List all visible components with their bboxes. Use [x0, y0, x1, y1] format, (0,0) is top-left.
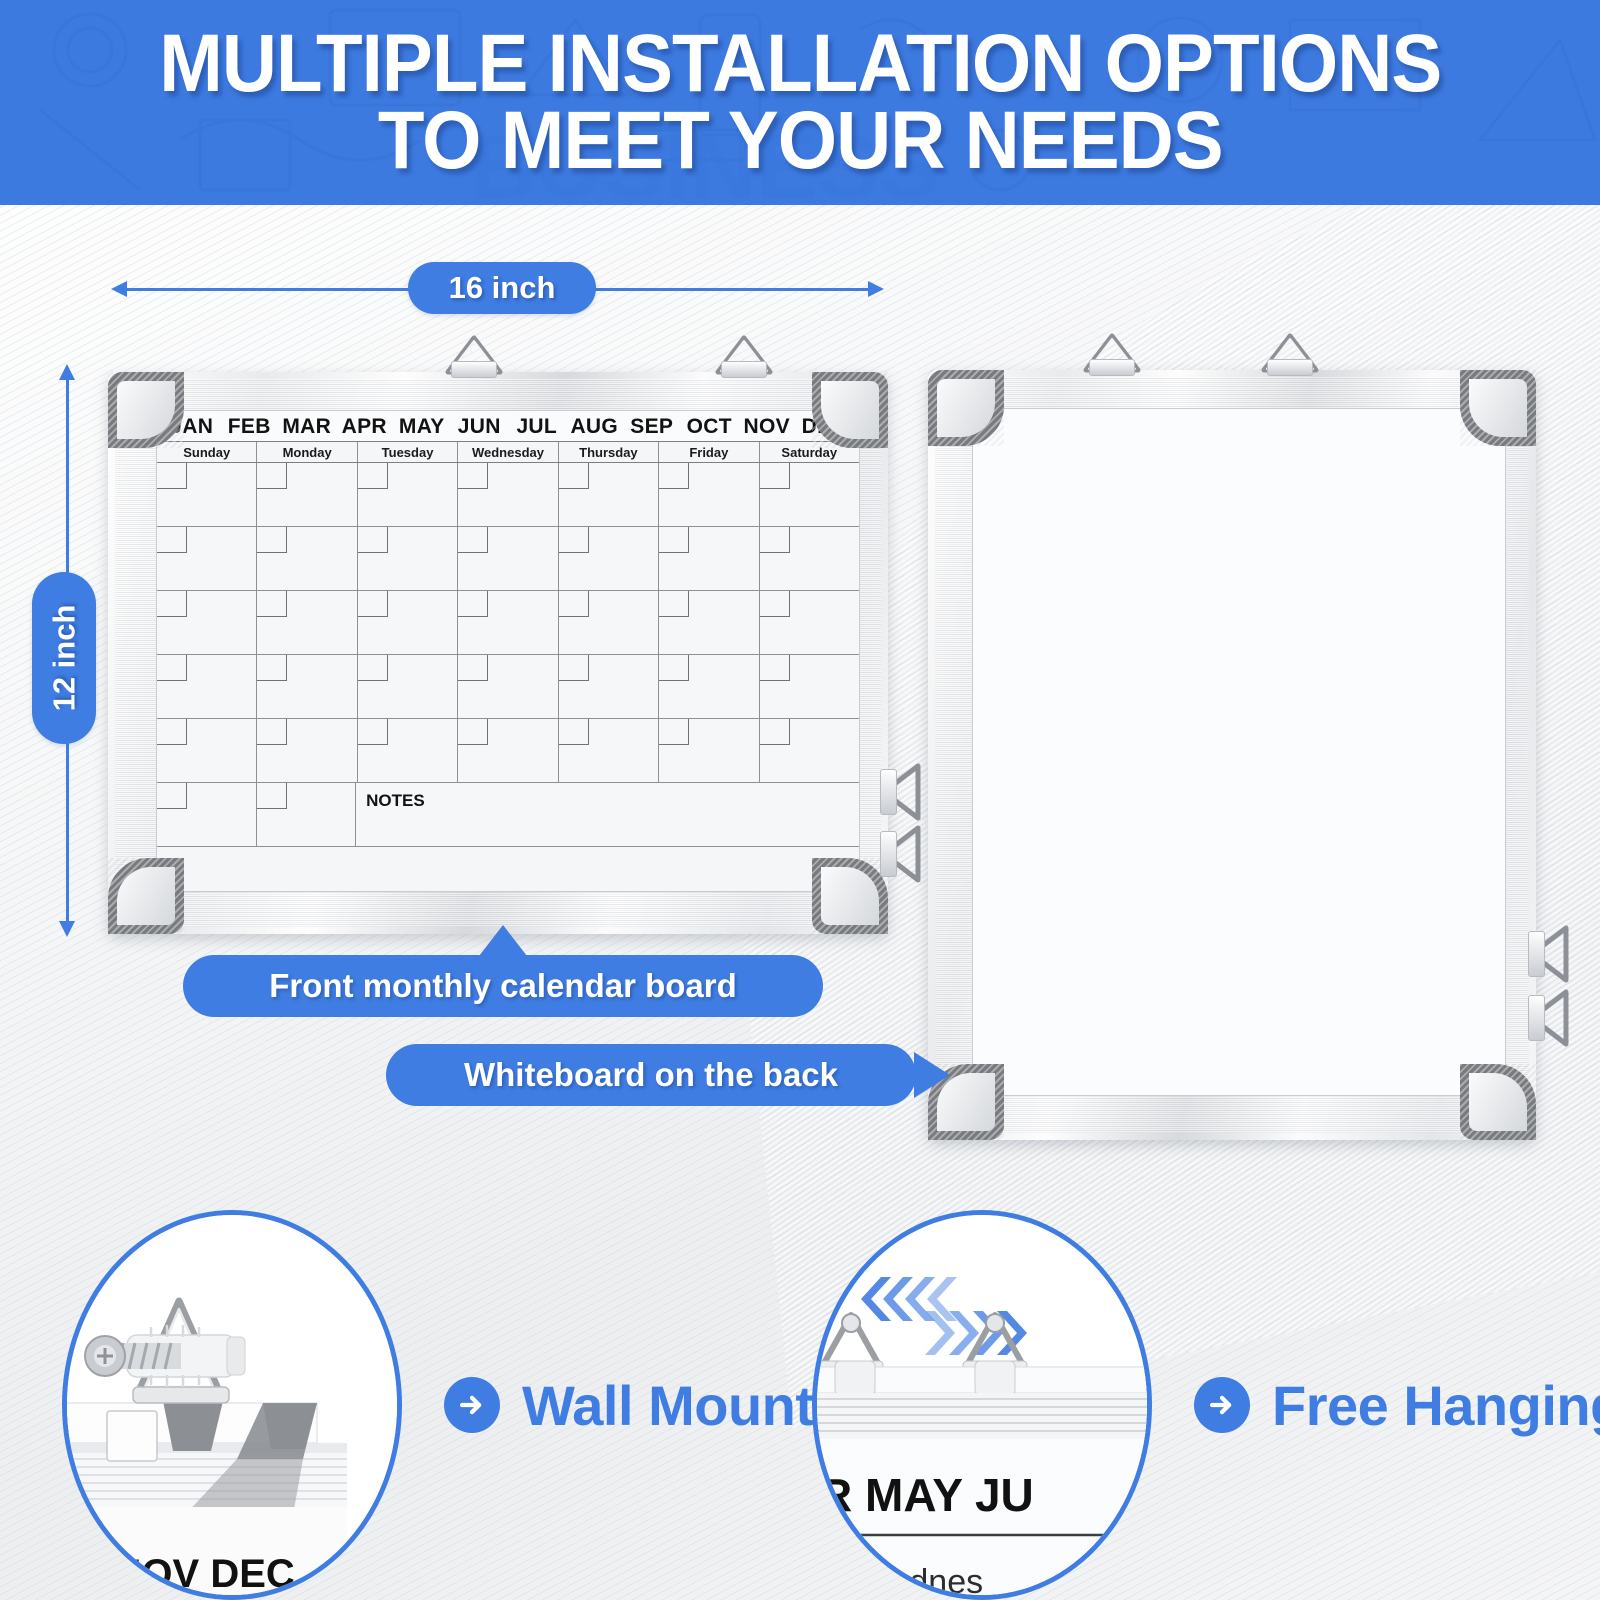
calendar-date-box	[257, 719, 287, 745]
calendar-weekday-wednesday: Wednesday	[457, 442, 557, 462]
wall-mount-photo-caption: T NOV DEC	[77, 1552, 295, 1596]
calendar-board[interactable]: JANFEBMARAPRMAYJUNJULAUGSEPOCTNOVDEC Sun…	[108, 372, 888, 934]
calendar-date-box	[257, 463, 287, 489]
height-dimension-badge: 12 inch	[32, 572, 96, 744]
calendar-date-box	[659, 719, 689, 745]
calendar-week-row	[157, 527, 859, 591]
calendar-month-jun: JUN	[451, 415, 509, 439]
calendar-date-box	[559, 719, 589, 745]
calendar-month-apr: APR	[336, 415, 394, 439]
width-dimension-badge: 16 inch	[408, 262, 596, 314]
calendar-date-box	[760, 719, 790, 745]
triangle-hanger-icon[interactable]	[1080, 332, 1144, 376]
calendar-weekday-tuesday: Tuesday	[357, 442, 457, 462]
calendar-day-cell[interactable]	[759, 655, 859, 719]
free-hanging-photo-caption-weekday: Wednes	[859, 1563, 983, 1600]
calendar-date-box	[157, 527, 187, 553]
calendar-day-cell[interactable]	[256, 591, 356, 655]
free-hanging-illustration: R MAY JU Wednes	[817, 1215, 1152, 1600]
calendar-date-box	[458, 719, 488, 745]
triangle-hanger-icon[interactable]	[712, 334, 776, 378]
calendar-day-cell[interactable]	[157, 655, 256, 719]
height-dimension-label: 12 inch	[46, 605, 82, 712]
hanger-saddle	[451, 361, 497, 378]
calendar-date-box	[458, 527, 488, 553]
callout-back-whiteboard: Whiteboard on the back	[386, 1044, 916, 1106]
calendar-date-box	[760, 463, 790, 489]
banner-title-line2: TO MEET YOUR NEEDS	[159, 103, 1441, 179]
calendar-week-row	[157, 719, 859, 783]
triangle-hanger-icon[interactable]	[880, 822, 924, 886]
calendar-date-box	[257, 591, 287, 617]
header-banner: BUSINESS MULTIPLE INSTALLATION OPTIONS T…	[0, 0, 1600, 205]
hanger-saddle	[1089, 359, 1135, 376]
callout-front-calendar: Front monthly calendar board	[183, 955, 823, 1017]
calendar-day-cell[interactable]	[157, 591, 256, 655]
calendar-day-cell[interactable]	[658, 719, 758, 783]
calendar-date-box	[458, 591, 488, 617]
calendar-grid[interactable]: NOTES	[157, 462, 859, 847]
calendar-day-cell[interactable]	[457, 719, 557, 783]
callout-back-label: Whiteboard on the back	[464, 1056, 838, 1094]
calendar-day-cell[interactable]	[357, 527, 457, 591]
calendar-week-row	[157, 463, 859, 527]
calendar-day-cell[interactable]	[157, 527, 256, 591]
calendar-date-box	[559, 527, 589, 553]
calendar-date-box	[358, 591, 388, 617]
wall-mount-photo: T NOV DEC	[62, 1210, 402, 1600]
calendar-day-cell[interactable]	[558, 463, 658, 527]
calendar-day-cell[interactable]	[457, 527, 557, 591]
calendar-day-cell[interactable]	[658, 463, 758, 527]
calendar-day-cell[interactable]	[658, 655, 758, 719]
calendar-date-box	[257, 783, 287, 809]
corner-protector	[812, 858, 888, 934]
calendar-week-row-last: NOTES	[157, 783, 859, 847]
calendar-weekday-thursday: Thursday	[558, 442, 658, 462]
calendar-weekday-friday: Friday	[658, 442, 758, 462]
calendar-day-cell[interactable]	[157, 719, 256, 783]
calendar-day-cell[interactable]	[558, 655, 658, 719]
calendar-day-cell[interactable]	[658, 591, 758, 655]
calendar-month-aug: AUG	[566, 415, 624, 439]
feature-free-hanging-label: Free Hanging	[1272, 1373, 1600, 1438]
calendar-day-cell[interactable]	[759, 719, 859, 783]
calendar-date-box	[659, 527, 689, 553]
corner-protector	[1460, 370, 1536, 446]
free-hanging-photo-caption-months: R MAY JU	[819, 1469, 1034, 1521]
calendar-day-cell[interactable]	[256, 655, 356, 719]
triangle-hanger-icon[interactable]	[1258, 332, 1322, 376]
calendar-date-box	[358, 527, 388, 553]
calendar-date-box	[760, 591, 790, 617]
calendar-date-box	[358, 655, 388, 681]
calendar-date-box	[659, 591, 689, 617]
corner-protector	[928, 370, 1004, 446]
triangle-hanger-icon[interactable]	[1528, 986, 1572, 1050]
hanger-saddle	[721, 361, 767, 378]
calendar-date-box	[157, 463, 187, 489]
calendar-day-cell[interactable]	[357, 655, 457, 719]
banner-title: MULTIPLE INSTALLATION OPTIONS TO MEET YO…	[159, 26, 1441, 179]
calendar-date-box	[257, 527, 287, 553]
calendar-month-feb: FEB	[221, 415, 279, 439]
triangle-hanger-icon[interactable]	[1528, 922, 1572, 986]
feature-free-hanging: R MAY JU Wednes Free Hanging	[812, 1210, 1600, 1600]
calendar-notes-area[interactable]: NOTES	[355, 783, 859, 847]
calendar-day-cell[interactable]	[256, 719, 356, 783]
free-hanging-photo: R MAY JU Wednes	[812, 1210, 1152, 1600]
corner-protector	[108, 372, 184, 448]
calendar-day-cell[interactable]	[457, 463, 557, 527]
calendar-month-jul: JUL	[508, 415, 566, 439]
calendar-date-box	[358, 719, 388, 745]
calendar-date-box	[559, 655, 589, 681]
calendar-day-cell[interactable]	[658, 527, 758, 591]
width-dimension-label: 16 inch	[449, 270, 556, 306]
calendar-date-box	[458, 463, 488, 489]
calendar-day-cell[interactable]	[457, 591, 557, 655]
calendar-date-box	[659, 655, 689, 681]
calendar-surface[interactable]: JANFEBMARAPRMAYJUNJULAUGSEPOCTNOVDEC Sun…	[156, 410, 860, 892]
calendar-day-cell[interactable]	[759, 463, 859, 527]
corner-protector	[1460, 1064, 1536, 1140]
calendar-date-box	[257, 655, 287, 681]
calendar-date-box	[358, 463, 388, 489]
callout-tail-up	[479, 925, 527, 956]
calendar-day-cell[interactable]	[357, 719, 457, 783]
triangle-hanger-icon[interactable]	[442, 334, 506, 378]
arrow-right-icon	[1194, 1377, 1250, 1433]
calendar-month-strip: JANFEBMARAPRMAYJUNJULAUGSEPOCTNOVDEC	[157, 411, 859, 441]
triangle-hanger-icon[interactable]	[880, 760, 924, 824]
calendar-day-cell[interactable]	[558, 719, 658, 783]
calendar-date-box	[157, 591, 187, 617]
calendar-date-box	[157, 719, 187, 745]
calendar-date-box	[760, 527, 790, 553]
corner-protector	[108, 858, 184, 934]
calendar-date-box	[559, 591, 589, 617]
feature-wall-mount: T NOV DEC Wall Mount	[62, 1210, 814, 1600]
calendar-month-mar: MAR	[278, 415, 336, 439]
hanger-saddle	[880, 769, 897, 815]
calendar-week-row	[157, 655, 859, 719]
hanger-saddle	[1267, 359, 1313, 376]
calendar-month-nov: NOV	[738, 415, 796, 439]
calendar-date-box	[458, 655, 488, 681]
whiteboard-surface[interactable]	[972, 408, 1506, 1096]
arrow-right-icon	[444, 1377, 500, 1433]
calendar-day-cell[interactable]	[357, 463, 457, 527]
calendar-day-cell[interactable]	[558, 527, 658, 591]
calendar-day-cell[interactable]	[357, 591, 457, 655]
calendar-month-sep: SEP	[623, 415, 681, 439]
calendar-date-box	[157, 655, 187, 681]
callout-front-label: Front monthly calendar board	[269, 967, 737, 1005]
calendar-day-cell[interactable]	[457, 655, 557, 719]
calendar-date-box	[760, 655, 790, 681]
calendar-weekday-header: SundayMondayTuesdayWednesdayThursdayFrid…	[157, 441, 859, 462]
hanger-saddle	[1528, 995, 1545, 1041]
calendar-day-cell[interactable]	[759, 527, 859, 591]
calendar-day-cell[interactable]	[157, 783, 256, 847]
calendar-date-box	[659, 463, 689, 489]
calendar-week-row	[157, 591, 859, 655]
calendar-month-may: MAY	[393, 415, 451, 439]
calendar-weekday-monday: Monday	[256, 442, 356, 462]
whiteboard-board[interactable]	[928, 370, 1536, 1140]
wall-mount-illustration: T NOV DEC	[67, 1215, 402, 1600]
hanger-saddle	[880, 831, 897, 877]
calendar-date-box	[157, 783, 187, 809]
calendar-day-cell[interactable]	[256, 463, 356, 527]
calendar-day-cell[interactable]	[558, 591, 658, 655]
calendar-day-cell[interactable]	[157, 463, 256, 527]
corner-protector	[812, 372, 888, 448]
calendar-day-cell[interactable]	[256, 527, 356, 591]
calendar-day-cell[interactable]	[759, 591, 859, 655]
callout-tail-right	[914, 1052, 950, 1098]
hanger-saddle	[1528, 931, 1545, 977]
calendar-month-oct: OCT	[681, 415, 739, 439]
calendar-date-box	[559, 463, 589, 489]
calendar-day-cell[interactable]	[256, 783, 356, 847]
feature-wall-mount-label: Wall Mount	[522, 1373, 814, 1438]
